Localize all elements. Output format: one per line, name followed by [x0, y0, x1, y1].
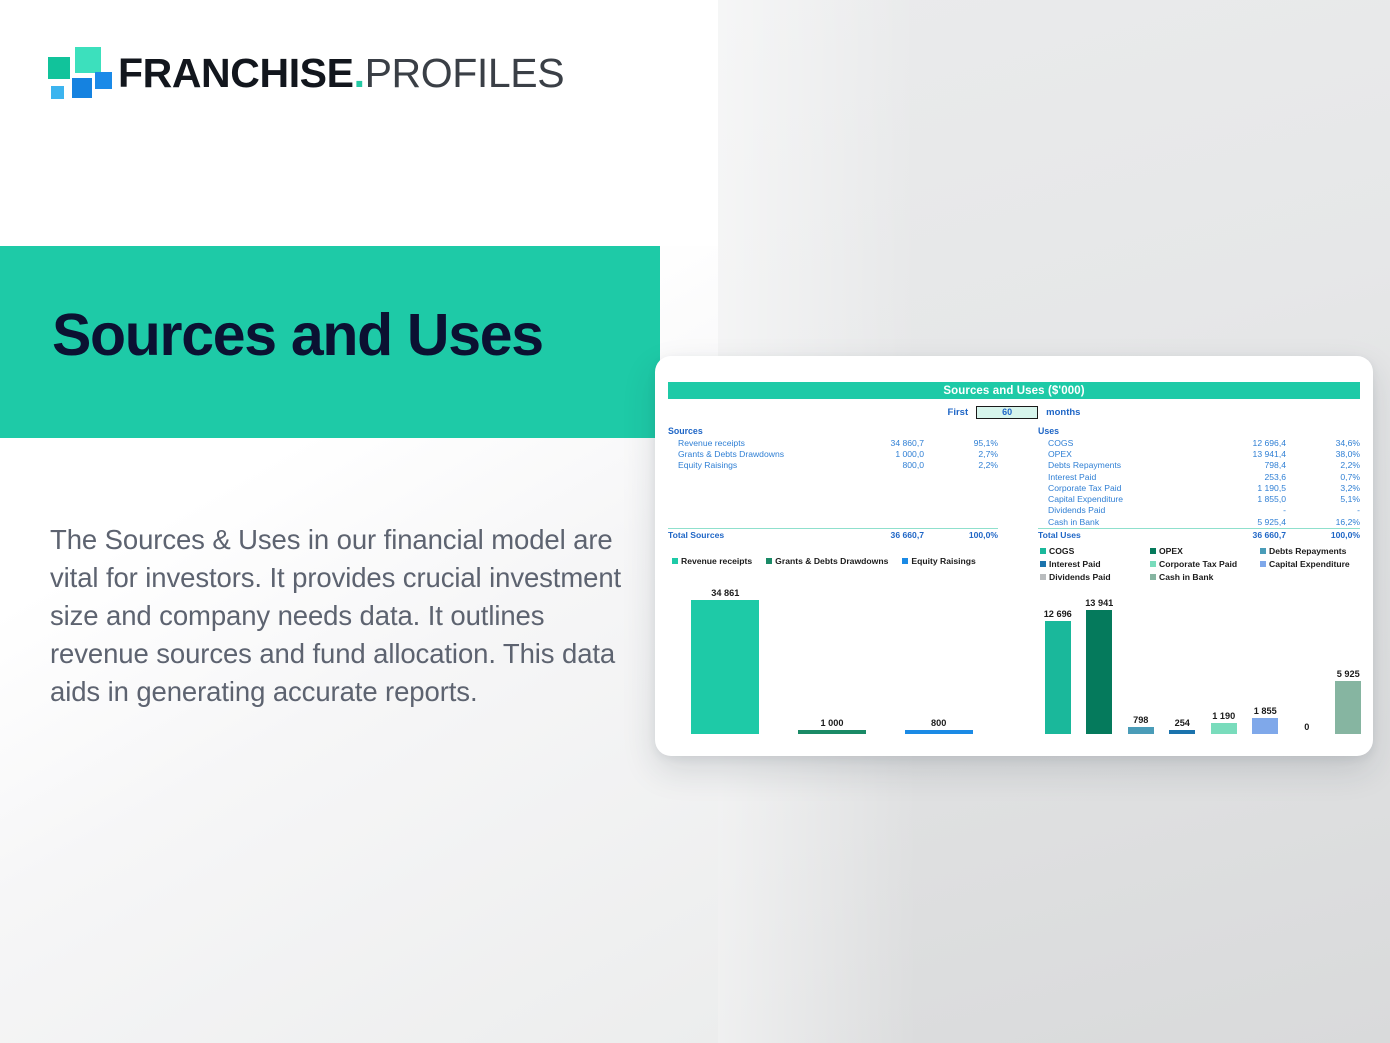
legend-swatch-icon — [1040, 574, 1046, 580]
uses-row-value: 253,6 — [1194, 472, 1286, 482]
table-row: COGS12 696,434,6% — [1038, 437, 1360, 448]
table-row: Cash in Bank5 925,416,2% — [1038, 516, 1360, 527]
uses-row-label: COGS — [1038, 438, 1194, 448]
legend-swatch-icon — [766, 558, 772, 564]
sources-row-pct: 2,2% — [924, 460, 998, 470]
uses-row-label: Dividends Paid — [1038, 505, 1194, 515]
logo-square-1 — [48, 57, 70, 79]
uses-chart-legend: COGSOPEXDebts RepaymentsInterest PaidCor… — [1040, 546, 1370, 585]
logo-word-dot: . — [354, 50, 365, 96]
period-prefix-label: First — [948, 407, 969, 418]
sources-plot-area: 34 8611 000800 — [672, 584, 992, 734]
table-row: Capital Expenditure1 855,05,1% — [1038, 493, 1360, 504]
period-suffix-label: months — [1046, 407, 1080, 418]
sources-total-row: Total Sources 36 660,7 100,0% — [668, 528, 998, 541]
bar — [691, 600, 759, 734]
logo-mark-icon — [48, 45, 104, 101]
bar-value-label: 1 000 — [821, 718, 844, 728]
brand-logo: FRANCHISE.PROFILES — [48, 44, 564, 102]
bar — [1335, 681, 1361, 734]
uses-row-pct: - — [1286, 505, 1360, 515]
legend-label: Grants & Debts Drawdowns — [775, 556, 888, 566]
uses-row-pct: 0,7% — [1286, 472, 1360, 482]
bar — [1252, 718, 1278, 734]
sources-row-pct: 2,7% — [924, 449, 998, 459]
sources-table-header: Sources — [668, 426, 998, 437]
bar-value-label: 254 — [1175, 718, 1190, 728]
legend-item[interactable]: Dividends Paid — [1040, 572, 1150, 582]
logo-wordmark: FRANCHISE.PROFILES — [118, 53, 564, 94]
uses-row-value: 1 855,0 — [1194, 494, 1286, 504]
table-row: Revenue receipts34 860,795,1% — [668, 437, 998, 448]
bar-group: 800 — [885, 584, 992, 734]
legend-label: Capital Expenditure — [1269, 559, 1350, 569]
sources-row-value: 34 860,7 — [832, 438, 924, 448]
legend-item[interactable]: Interest Paid — [1040, 559, 1150, 569]
legend-swatch-icon — [672, 558, 678, 564]
bar — [1045, 621, 1071, 734]
logo-square-5 — [51, 86, 64, 99]
uses-row-value: 5 925,4 — [1194, 517, 1286, 527]
legend-swatch-icon — [1040, 548, 1046, 554]
bar-value-label: 5 925 — [1337, 669, 1360, 679]
legend-item[interactable]: OPEX — [1150, 546, 1260, 556]
sources-total-label: Total Sources — [668, 530, 832, 540]
period-selector-row: First 60 months — [668, 404, 1360, 420]
uses-row-label: Debts Repayments — [1038, 460, 1194, 470]
page-title: Sources and Uses — [52, 305, 543, 367]
legend-item[interactable]: Debts Repayments — [1260, 546, 1370, 556]
table-row: Equity Raisings800,02,2% — [668, 460, 998, 471]
sources-table: Sources Revenue receipts34 860,795,1%Gra… — [668, 426, 998, 541]
table-row: Interest Paid253,60,7% — [1038, 471, 1360, 482]
uses-table-header: Uses — [1038, 426, 1360, 437]
uses-plot-area: 12 69613 9417982541 1901 85505 925 — [1037, 594, 1369, 734]
legend-swatch-icon — [1150, 574, 1156, 580]
bar-value-label: 1 190 — [1212, 711, 1235, 721]
uses-total-value: 36 660,7 — [1194, 530, 1286, 540]
bar-group: 1 855 — [1245, 594, 1287, 734]
legend-swatch-icon — [1260, 561, 1266, 567]
bar-group: 5 925 — [1328, 594, 1370, 734]
legend-item[interactable]: Corporate Tax Paid — [1150, 559, 1260, 569]
legend-label: Cash in Bank — [1159, 572, 1213, 582]
background-top-white — [0, 0, 718, 246]
uses-row-pct: 3,2% — [1286, 483, 1360, 493]
legend-swatch-icon — [1150, 561, 1156, 567]
bar — [1086, 610, 1112, 734]
legend-label: Interest Paid — [1049, 559, 1101, 569]
uses-total-row: Total Uses 36 660,7 100,0% — [1038, 528, 1360, 541]
uses-bar-chart: 12 69613 9417982541 1901 85505 925 — [1037, 594, 1369, 734]
sheet-title: Sources and Uses ($'000) — [668, 382, 1360, 399]
table-row: Grants & Debts Drawdowns1 000,02,7% — [668, 448, 998, 459]
bar — [798, 730, 866, 734]
uses-row-value: 798,4 — [1194, 460, 1286, 470]
bar-value-label: 800 — [931, 718, 946, 728]
legend-item[interactable]: Cash in Bank — [1150, 572, 1260, 582]
legend-label: OPEX — [1159, 546, 1183, 556]
uses-table: Uses COGS12 696,434,6%OPEX13 941,438,0%D… — [1038, 426, 1360, 541]
table-row: Debts Repayments798,42,2% — [1038, 460, 1360, 471]
legend-label: COGS — [1049, 546, 1074, 556]
bar-value-label: 798 — [1133, 715, 1148, 725]
legend-item[interactable]: Grants & Debts Drawdowns — [766, 556, 888, 566]
uses-row-value: - — [1194, 505, 1286, 515]
uses-row-label: OPEX — [1038, 449, 1194, 459]
sources-rows: Revenue receipts34 860,795,1%Grants & De… — [668, 437, 998, 471]
bar — [1128, 727, 1154, 734]
uses-row-pct: 34,6% — [1286, 438, 1360, 448]
legend-swatch-icon — [1260, 548, 1266, 554]
bar-group: 1 000 — [779, 584, 886, 734]
uses-row-value: 1 190,5 — [1194, 483, 1286, 493]
bar-group: 254 — [1162, 594, 1204, 734]
bar — [1169, 730, 1195, 734]
bar — [1211, 723, 1237, 734]
uses-row-label: Capital Expenditure — [1038, 494, 1194, 504]
uses-total-label: Total Uses — [1038, 530, 1194, 540]
table-row: OPEX13 941,438,0% — [1038, 448, 1360, 459]
legend-item[interactable]: Equity Raisings — [902, 556, 975, 566]
logo-square-4 — [95, 72, 112, 89]
logo-square-2 — [75, 47, 101, 73]
sources-total-value: 36 660,7 — [832, 530, 924, 540]
bar-value-label: 1 855 — [1254, 706, 1277, 716]
bar-group: 34 861 — [672, 584, 779, 734]
sources-row-label: Grants & Debts Drawdowns — [668, 449, 832, 459]
uses-row-value: 13 941,4 — [1194, 449, 1286, 459]
uses-total-pct: 100,0% — [1286, 530, 1360, 540]
sources-row-pct: 95,1% — [924, 438, 998, 448]
bar-value-label: 13 941 — [1085, 598, 1113, 608]
bar-value-label: 34 861 — [711, 588, 739, 598]
logo-word-thin: PROFILES — [365, 50, 565, 96]
sources-bar-chart: 34 8611 000800 — [672, 584, 992, 734]
sources-row-label: Revenue receipts — [668, 438, 832, 448]
sources-row-value: 800,0 — [832, 460, 924, 470]
legend-swatch-icon — [1150, 548, 1156, 554]
body-paragraph: The Sources & Uses in our financial mode… — [50, 521, 625, 711]
bar-value-label: 12 696 — [1044, 609, 1072, 619]
bar-group: 13 941 — [1079, 594, 1121, 734]
bar-group: 0 — [1286, 594, 1328, 734]
logo-word-bold: FRANCHISE — [118, 50, 354, 96]
uses-rows: COGS12 696,434,6%OPEX13 941,438,0%Debts … — [1038, 437, 1360, 527]
legend-swatch-icon — [902, 558, 908, 564]
bar-value-label: 0 — [1304, 722, 1309, 732]
legend-label: Equity Raisings — [911, 556, 975, 566]
uses-row-pct: 38,0% — [1286, 449, 1360, 459]
sources-row-value: 1 000,0 — [832, 449, 924, 459]
legend-label: Corporate Tax Paid — [1159, 559, 1237, 569]
sources-total-pct: 100,0% — [924, 530, 998, 540]
sources-row-label: Equity Raisings — [668, 460, 832, 470]
uses-row-label: Interest Paid — [1038, 472, 1194, 482]
table-row: Dividends Paid-- — [1038, 505, 1360, 516]
months-input[interactable]: 60 — [976, 406, 1038, 419]
bar-group: 12 696 — [1037, 594, 1079, 734]
legend-label: Revenue receipts — [681, 556, 752, 566]
bar-group: 798 — [1120, 594, 1162, 734]
legend-item[interactable]: Revenue receipts — [672, 556, 752, 566]
table-row: Corporate Tax Paid1 190,53,2% — [1038, 482, 1360, 493]
bar-group: 1 190 — [1203, 594, 1245, 734]
bar — [905, 730, 973, 734]
legend-item[interactable]: Capital Expenditure — [1260, 559, 1370, 569]
uses-row-value: 12 696,4 — [1194, 438, 1286, 448]
uses-row-pct: 5,1% — [1286, 494, 1360, 504]
legend-label: Debts Repayments — [1269, 546, 1346, 556]
logo-square-3 — [72, 78, 92, 98]
uses-row-pct: 2,2% — [1286, 460, 1360, 470]
uses-row-pct: 16,2% — [1286, 517, 1360, 527]
sources-chart-legend: Revenue receiptsGrants & Debts Drawdowns… — [672, 556, 992, 566]
uses-row-label: Corporate Tax Paid — [1038, 483, 1194, 493]
legend-label: Dividends Paid — [1049, 572, 1111, 582]
uses-row-label: Cash in Bank — [1038, 517, 1194, 527]
legend-swatch-icon — [1040, 561, 1046, 567]
legend-item[interactable]: COGS — [1040, 546, 1150, 556]
